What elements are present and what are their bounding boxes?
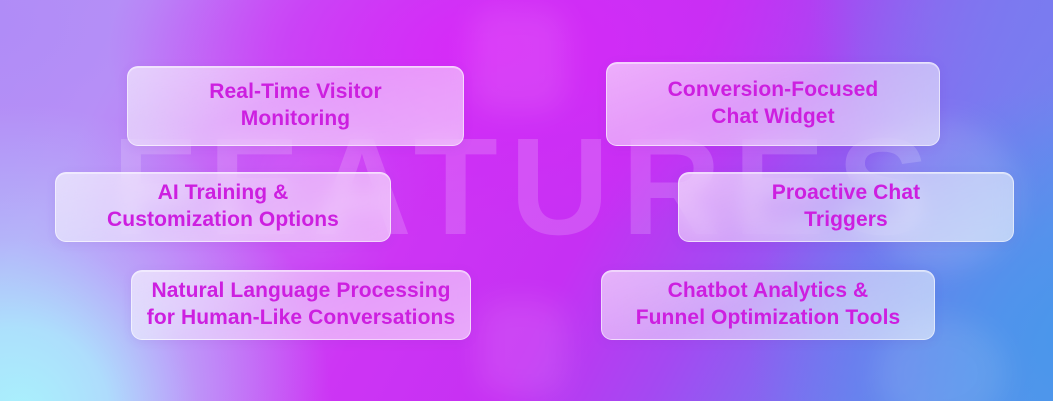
feature-card-label: Chatbot Analytics & Funnel Optimization … bbox=[622, 278, 915, 332]
feature-card-label: Natural Language Processing for Human-Li… bbox=[133, 278, 470, 332]
feature-card-label: Conversion-Focused Chat Widget bbox=[654, 77, 893, 131]
feature-card-ai-training-customization-options[interactable]: AI Training & Customization Options bbox=[55, 172, 391, 242]
feature-card-label: Real-Time Visitor Monitoring bbox=[195, 79, 396, 133]
feature-card-conversion-focused-chat-widget[interactable]: Conversion-Focused Chat Widget bbox=[606, 62, 940, 146]
feature-card-label: Proactive Chat Triggers bbox=[758, 180, 934, 234]
feature-card-label: AI Training & Customization Options bbox=[93, 180, 353, 234]
feature-card-real-time-visitor-monitoring[interactable]: Real-Time Visitor Monitoring bbox=[127, 66, 464, 146]
features-section: FEATURES Real-Time Visitor Monitoring Co… bbox=[0, 0, 1053, 401]
decorative-blob bbox=[478, 300, 566, 396]
feature-card-chatbot-analytics-funnel-optimization[interactable]: Chatbot Analytics & Funnel Optimization … bbox=[601, 270, 935, 340]
feature-card-proactive-chat-triggers[interactable]: Proactive Chat Triggers bbox=[678, 172, 1014, 242]
feature-card-natural-language-processing[interactable]: Natural Language Processing for Human-Li… bbox=[131, 270, 471, 340]
decorative-blob bbox=[470, 8, 566, 112]
